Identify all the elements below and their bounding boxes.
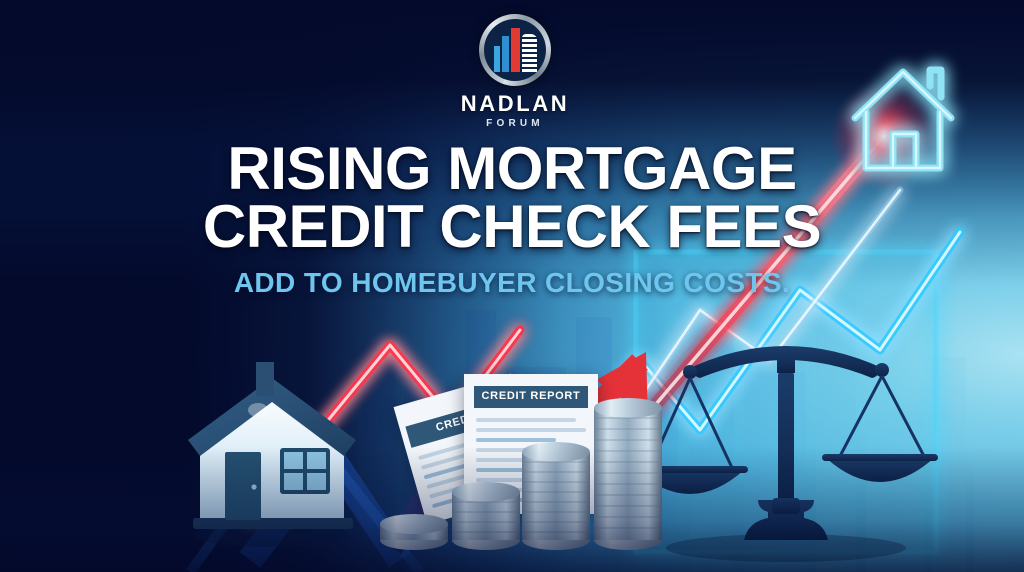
banner-canvas: CREDIT R CREDIT REPORT (0, 0, 1024, 572)
vignette-overlay (0, 0, 1024, 572)
